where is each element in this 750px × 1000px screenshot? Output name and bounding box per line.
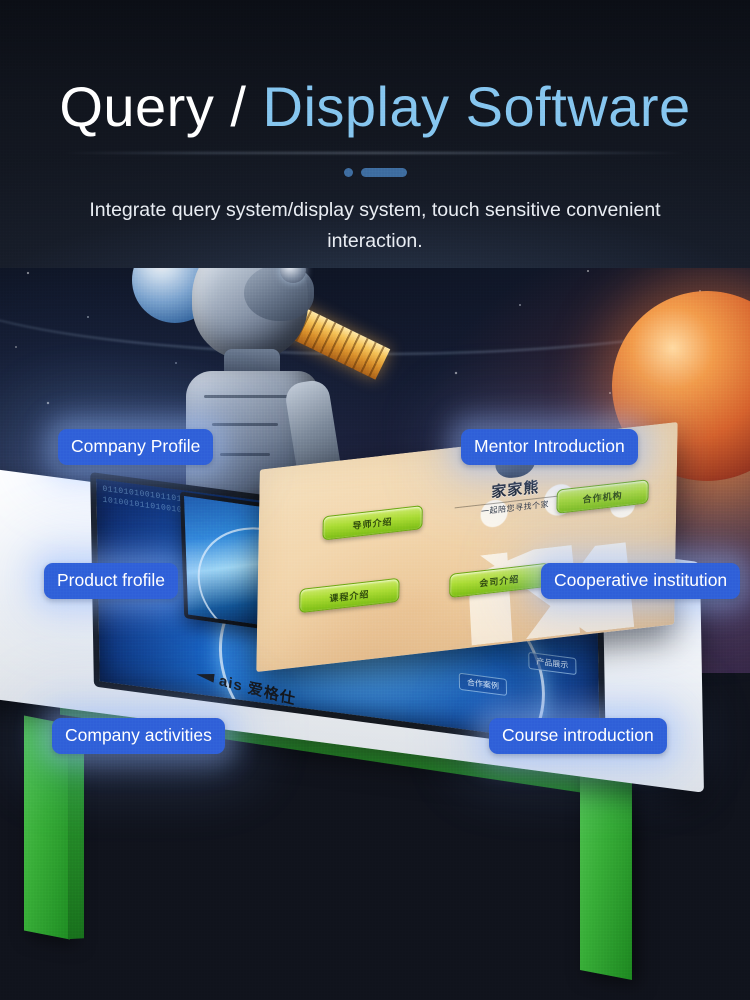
page-title: Query / Display Software	[0, 76, 750, 138]
page-title-primary: Query /	[59, 75, 262, 138]
header-hairline	[60, 152, 690, 154]
badge-company-activities[interactable]: Company activities	[52, 718, 225, 754]
robot-panel-line	[204, 395, 290, 398]
page-subtitle: Integrate query system/display system, t…	[70, 195, 680, 257]
divider-dot-icon	[344, 168, 353, 177]
robot-panel-line	[220, 453, 270, 456]
brand-mark-icon	[196, 669, 215, 682]
badge-cooperative-institution[interactable]: Cooperative institution	[541, 563, 740, 599]
divider-bar-icon	[361, 168, 407, 177]
header-section: Query / Display Software Integrate query…	[0, 0, 750, 268]
badge-course-introduction[interactable]: Course introduction	[489, 718, 667, 754]
badge-company-profile[interactable]: Company Profile	[58, 429, 213, 465]
page-title-accent: Display Software	[263, 75, 691, 138]
badge-product-profile[interactable]: Product frofile	[44, 563, 178, 599]
robot-panel-line	[212, 423, 278, 426]
promo-banner: Query / Display Software Integrate query…	[0, 0, 750, 1000]
title-divider	[0, 166, 750, 178]
badge-mentor-introduction[interactable]: Mentor Introduction	[461, 429, 638, 465]
